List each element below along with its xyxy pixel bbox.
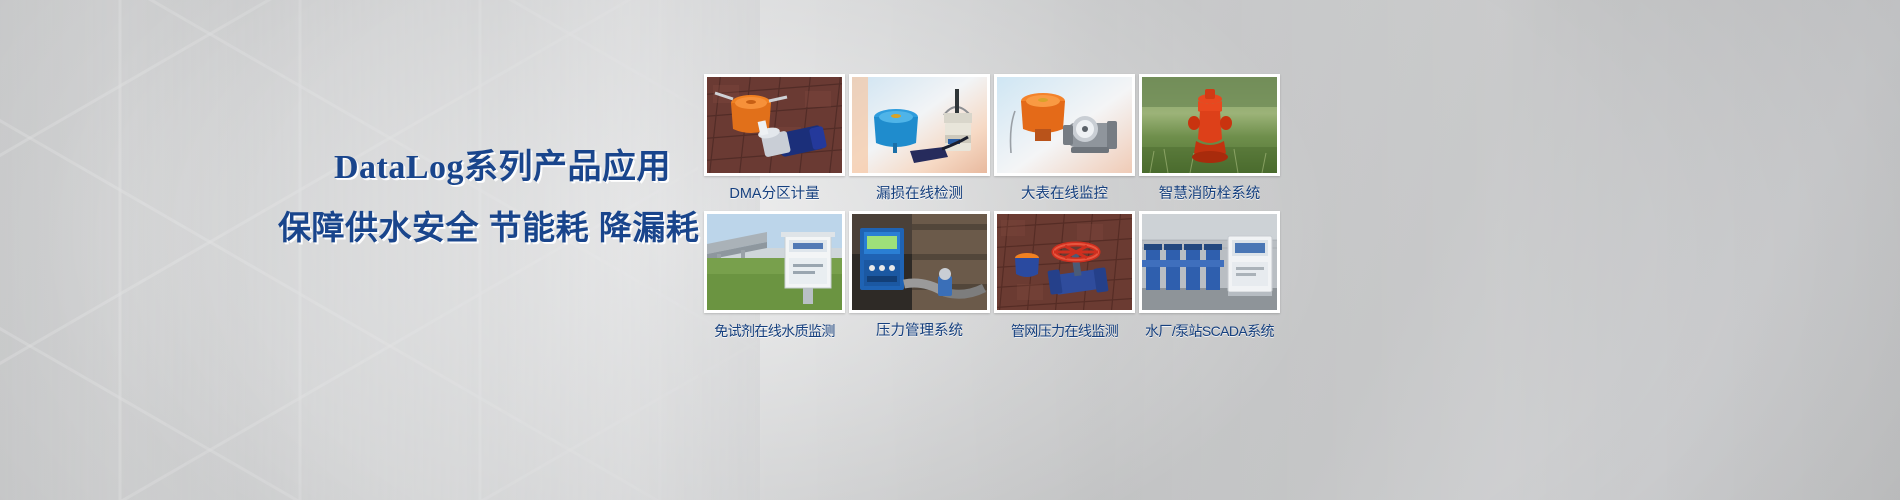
product-card-leak-detection[interactable]: 漏损在线检测 [849,74,990,203]
dma-metering-photo [707,77,842,173]
product-card-scada[interactable]: 水厂/泵站SCADA系统 [1139,211,1280,340]
leak-detection-photo [852,77,987,173]
product-card-water-quality[interactable]: 免试剂在线水质监测 [704,211,845,340]
product-thumbnail[interactable] [994,74,1135,176]
product-caption: 大表在线监控 [994,185,1135,203]
product-card-pipe-pressure[interactable]: 管网压力在线监测 [994,211,1135,340]
product-caption: 漏损在线检测 [849,185,990,203]
product-caption: 压力管理系统 [849,322,990,340]
product-card-large-meter[interactable]: 大表在线监控 [994,74,1135,203]
product-thumbnail[interactable] [704,211,845,313]
product-thumbnail[interactable] [849,211,990,313]
product-card-dma-metering[interactable]: DMA分区计量 [704,74,845,203]
product-thumbnail[interactable] [1139,74,1280,176]
product-caption: 智慧消防栓系统 [1139,185,1280,203]
product-caption: 水厂/泵站SCADA系统 [1139,322,1280,340]
product-card-smart-hydrant[interactable]: 智慧消防栓系统 [1139,74,1280,203]
product-thumbnail[interactable] [994,211,1135,313]
product-caption: DMA分区计量 [704,185,845,203]
smart-hydrant-photo [1142,77,1277,173]
pipe-pressure-photo [997,214,1132,310]
hexagon-watermark-pattern [0,0,760,500]
product-caption: 管网压力在线监测 [994,322,1135,340]
product-caption: 免试剂在线水质监测 [704,322,845,340]
product-thumbnail[interactable] [849,74,990,176]
product-grid: DMA分区计量 [704,74,1280,340]
product-thumbnail[interactable] [704,74,845,176]
scada-cabinet-photo [1142,214,1277,310]
pressure-management-photo [852,214,987,310]
product-card-pressure-management[interactable]: 压力管理系统 [849,211,990,340]
large-meter-photo [997,77,1132,173]
water-quality-photo [707,214,842,310]
headline-line-1: DataLog系列产品应用 [278,148,698,188]
headline-line-2: 保障供水安全 节能耗 降漏耗 [278,208,698,248]
product-thumbnail[interactable] [1139,211,1280,313]
product-banner: DataLog系列产品应用 保障供水安全 节能耗 降漏耗 [0,0,1900,500]
headline-block: DataLog系列产品应用 保障供水安全 节能耗 降漏耗 [278,148,698,248]
